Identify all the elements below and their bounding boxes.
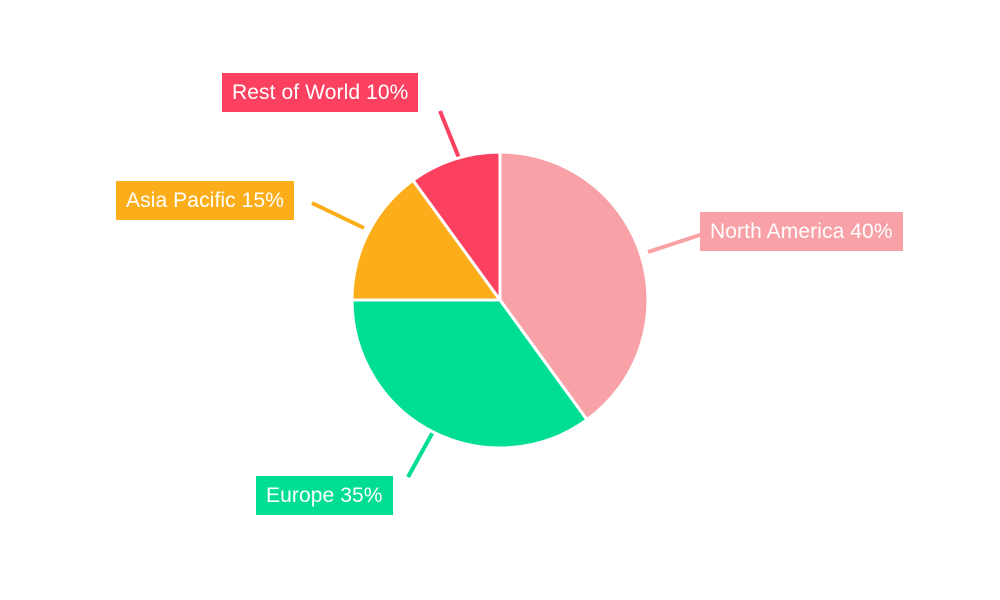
leader-line-asia-pacific <box>312 203 364 228</box>
pie-slices-group <box>352 152 648 448</box>
callout-label-asia-pacific[interactable]: Asia Pacific 15% <box>116 181 294 220</box>
leader-line-north-america <box>648 233 706 252</box>
callout-label-rest-of-world[interactable]: Rest of World 10% <box>222 73 418 112</box>
pie-chart-svg <box>0 0 1000 600</box>
callout-label-north-america[interactable]: North America 40% <box>700 212 903 251</box>
callout-label-europe[interactable]: Europe 35% <box>256 476 393 515</box>
pie-chart-canvas: Rest of World 10% Asia Pacific 15% North… <box>0 0 1000 600</box>
leader-line-rest-of-world <box>440 111 459 158</box>
leader-line-europe <box>408 430 434 477</box>
